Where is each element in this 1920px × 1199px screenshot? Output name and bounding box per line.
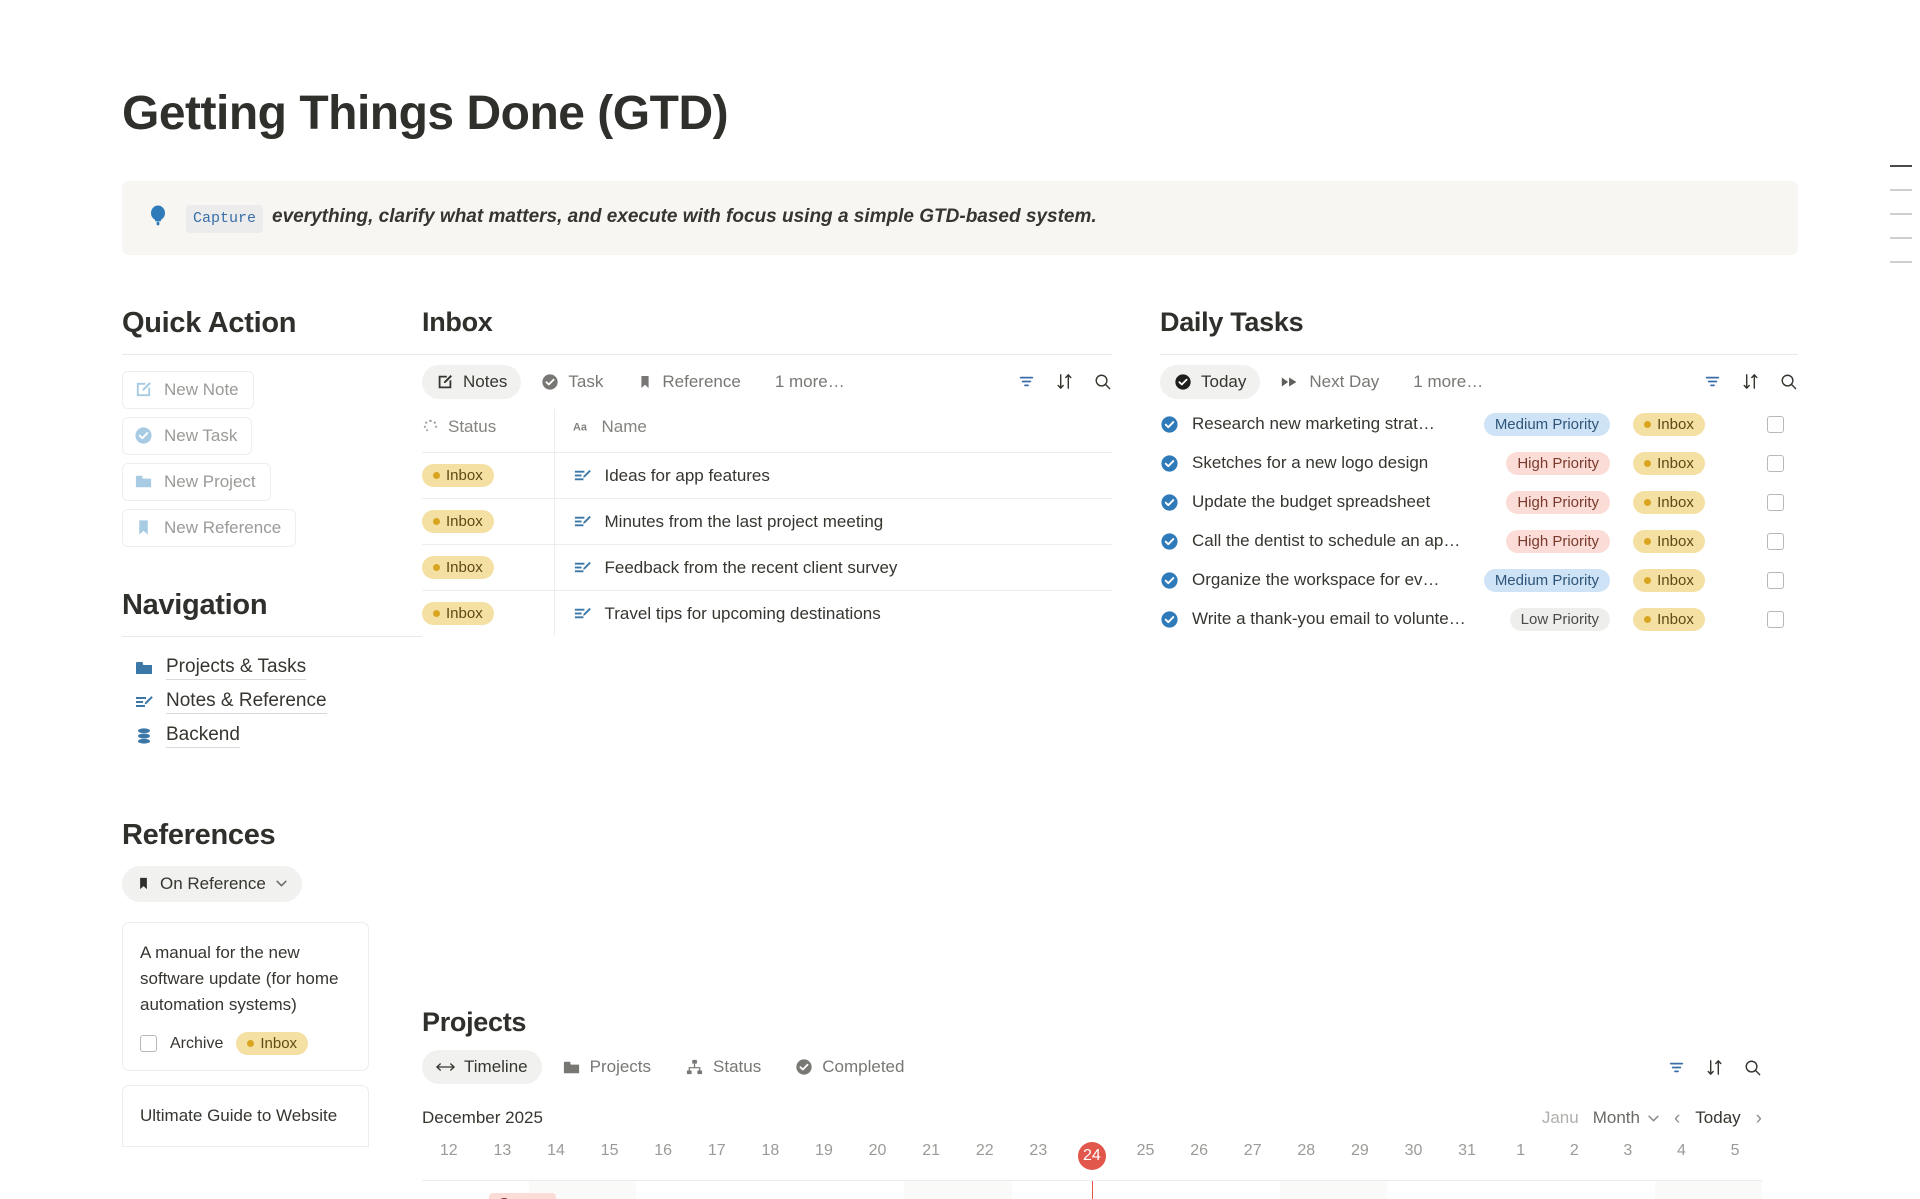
status-badge: Inbox — [1633, 452, 1705, 475]
sort-icon[interactable] — [1741, 372, 1760, 391]
status-badge: Inbox — [422, 556, 494, 579]
timeline-scale-select[interactable]: Month — [1593, 1108, 1660, 1128]
lightbulb-icon — [148, 205, 168, 227]
task-name-cell: Research new marketing strat… — [1160, 414, 1476, 434]
note-edit-icon — [134, 692, 154, 712]
timeline-day: 2 — [1547, 1142, 1601, 1180]
timeline-day: 27 — [1226, 1142, 1280, 1180]
check-circle-icon[interactable] — [1160, 571, 1179, 590]
timeline-day: 13 — [476, 1142, 530, 1180]
task-checkbox-cell — [1728, 494, 1784, 511]
task-checkbox[interactable] — [1767, 533, 1784, 550]
timeline-scale-label: Month — [1593, 1108, 1640, 1128]
timeline-day: 25 — [1119, 1142, 1173, 1180]
tab-status[interactable]: Status — [671, 1050, 775, 1084]
daily-tasks-tabs-row: Today Next Day 1 more… — [1160, 365, 1798, 399]
on-reference-label: On Reference — [160, 874, 266, 894]
day-label: 12 — [440, 1142, 458, 1159]
check-circle-icon[interactable] — [1160, 532, 1179, 551]
daily-tasks-tabs: Today Next Day 1 more… — [1160, 365, 1497, 399]
row-name-cell: Travel tips for upcoming destinations — [554, 591, 1112, 637]
callout-sentence: everything, clarify what matters, and ex… — [272, 203, 1097, 231]
sort-icon[interactable] — [1705, 1058, 1724, 1077]
timeline-day: 19 — [797, 1142, 851, 1180]
inbox-table: Status Aa Name — [422, 409, 1112, 637]
day-label: 19 — [815, 1142, 833, 1159]
archive-label: Archive — [170, 1035, 223, 1053]
check-circle-icon — [541, 373, 559, 391]
day-label: 21 — [922, 1142, 940, 1159]
archive-checkbox[interactable] — [140, 1035, 157, 1052]
timeline-rows: ▼ Career Plan a community charity event … — [422, 1181, 1762, 1199]
hierarchy-icon — [685, 1058, 704, 1077]
status-dot-icon — [433, 564, 440, 571]
task-status-cell: Inbox — [1610, 569, 1728, 592]
daily-tasks-panel: Daily Tasks Today Next Day — [1112, 307, 1798, 1147]
daily-tasks-heading: Daily Tasks — [1160, 307, 1798, 338]
timeline-day: 14 — [529, 1142, 583, 1180]
task-status-cell: Inbox — [1610, 413, 1728, 436]
day-label: 26 — [1190, 1142, 1208, 1159]
new-project-label: New Project — [164, 472, 256, 492]
status-badge-label: Inbox — [446, 559, 483, 576]
table-row[interactable]: Inbox Ideas for app features — [422, 453, 1112, 499]
tab-label: Today — [1201, 372, 1246, 392]
check-circle-icon — [134, 426, 153, 445]
tab-next-day[interactable]: Next Day — [1266, 365, 1393, 399]
task-status-cell: Inbox — [1610, 491, 1728, 514]
status-badge-label: Inbox — [446, 467, 483, 484]
note-edit-icon — [573, 466, 592, 485]
quick-action-heading: Quick Action — [122, 307, 422, 340]
day-label: 23 — [1029, 1142, 1047, 1159]
status-dot-icon — [433, 472, 440, 479]
timeline-nav: ‹ Today › — [1674, 1108, 1762, 1128]
timeline-next-month-label: Janu — [1542, 1108, 1579, 1128]
timeline-grid: 12 13 14 15 16 17 18 19 20 21 22 23 24 2… — [422, 1142, 1762, 1199]
search-icon[interactable] — [1743, 1058, 1762, 1077]
navigation-list: Projects & Tasks Notes & Reference Backe… — [122, 651, 422, 753]
status-badge-label: Inbox — [1657, 416, 1694, 433]
status-badge: Inbox — [1633, 569, 1705, 592]
task-checkbox[interactable] — [1767, 611, 1784, 628]
row-name-cell: Ideas for app features — [554, 453, 1112, 499]
new-reference-button[interactable]: New Reference — [122, 509, 296, 547]
task-row[interactable]: Sketches for a new logo design High Prio… — [1160, 444, 1798, 483]
timeline-day: 17 — [690, 1142, 744, 1180]
task-checkbox-cell — [1728, 611, 1784, 628]
tab-projects[interactable]: Projects — [548, 1050, 665, 1084]
day-label: 4 — [1677, 1142, 1686, 1159]
page-title: Getting Things Done (GTD) — [122, 0, 1798, 141]
daily-tasks-tools — [1703, 372, 1798, 391]
row-status-cell: Inbox — [422, 591, 554, 637]
left-sidebar: Quick Action New Note New Task — [122, 307, 422, 1147]
tab-label: 1 more… — [1413, 372, 1483, 392]
task-row[interactable]: Call the dentist to schedule an ap… High… — [1160, 522, 1798, 561]
priority-badge: High Priority — [1506, 491, 1610, 514]
status-dot-icon — [1644, 499, 1651, 506]
status-dot-icon — [1644, 460, 1651, 467]
task-status-cell: Inbox — [1610, 452, 1728, 475]
divider — [122, 354, 422, 355]
task-checkbox-cell — [1728, 572, 1784, 589]
tab-timeline[interactable]: Timeline — [422, 1050, 542, 1084]
day-label: 5 — [1731, 1142, 1740, 1159]
timeline-day: 26 — [1172, 1142, 1226, 1180]
tab-label: 1 more… — [775, 372, 845, 392]
scroll-indicator[interactable] — [1890, 165, 1912, 285]
row-name-label: Minutes from the last project meeting — [605, 512, 884, 532]
day-label: 29 — [1351, 1142, 1369, 1159]
status-badge: Inbox — [236, 1032, 308, 1055]
inbox-heading: Inbox — [422, 307, 1112, 338]
new-note-button[interactable]: New Note — [122, 371, 254, 409]
day-label: 15 — [601, 1142, 619, 1159]
day-label: 3 — [1623, 1142, 1632, 1159]
task-label: Write a thank-you email to volunte… — [1192, 609, 1466, 629]
search-icon[interactable] — [1779, 372, 1798, 391]
tab-more[interactable]: 1 more… — [761, 365, 859, 399]
column-header-name[interactable]: Aa Name — [554, 409, 1112, 453]
task-checkbox[interactable] — [1767, 455, 1784, 472]
priority-badge: Medium Priority — [1484, 413, 1610, 436]
tab-label: Next Day — [1309, 372, 1379, 392]
timeline-day: 3 — [1601, 1142, 1655, 1180]
tab-label: Projects — [590, 1057, 651, 1077]
check-circle-icon[interactable] — [1160, 415, 1179, 434]
task-checkbox[interactable] — [1767, 572, 1784, 589]
bookmark-icon — [136, 875, 151, 892]
row-name-label: Ideas for app features — [605, 466, 770, 486]
tab-reference[interactable]: Reference — [623, 365, 754, 399]
table-row[interactable]: Inbox Travel tips for upcoming destinati… — [422, 591, 1112, 637]
row-status-cell: Inbox — [422, 545, 554, 591]
status-badge: Inbox — [422, 510, 494, 533]
status-spinner-icon — [422, 418, 439, 435]
sidebar-item-label: Notes & Reference — [166, 690, 327, 714]
row-name-label: Travel tips for upcoming destinations — [605, 604, 881, 624]
check-circle-icon[interactable] — [1160, 493, 1179, 512]
day-label: 18 — [761, 1142, 779, 1159]
search-icon[interactable] — [1093, 372, 1112, 391]
bookmark-icon — [134, 518, 153, 537]
task-status-cell: Inbox — [1610, 608, 1728, 631]
timeline-day: 12 — [422, 1142, 476, 1180]
check-circle-icon — [1174, 373, 1192, 391]
status-badge: Inbox — [1633, 530, 1705, 553]
status-badge-label: Inbox — [1657, 611, 1694, 628]
status-dot-icon — [433, 610, 440, 617]
task-name-cell: Call the dentist to schedule an ap… — [1160, 531, 1476, 551]
status-badge: Inbox — [422, 464, 494, 487]
tab-label: Status — [713, 1057, 761, 1077]
day-label: 16 — [654, 1142, 672, 1159]
tab-label: Completed — [822, 1057, 904, 1077]
filter-icon[interactable] — [1017, 372, 1036, 391]
row-name-cell: Minutes from the last project meeting — [554, 499, 1112, 545]
status-badge-label: Inbox — [446, 513, 483, 530]
gtd-dashboard: Getting Things Done (GTD) Capture everyt… — [0, 0, 1920, 1199]
svg-text:Aa: Aa — [573, 422, 588, 434]
timeline-day-today: 24 — [1065, 1142, 1119, 1180]
sidebar-item-backend[interactable]: Backend — [122, 719, 422, 753]
task-row[interactable]: Update the budget spreadsheet High Prior… — [1160, 483, 1798, 522]
timeline-group-career[interactable]: ▼ Career — [422, 1181, 1762, 1199]
divider — [122, 636, 422, 637]
chevron-down-icon — [1647, 1112, 1660, 1125]
inbox-rows: Inbox Ideas for app features — [422, 453, 1112, 637]
row-name-cell: Feedback from the recent client survey — [554, 545, 1112, 591]
day-label: 20 — [869, 1142, 887, 1159]
day-label: 13 — [493, 1142, 511, 1159]
timeline-day: 5 — [1708, 1142, 1762, 1180]
today-marker: 24 — [1078, 1142, 1106, 1170]
reference-card-title: Ultimate Guide to Website — [140, 1103, 351, 1129]
chevron-down-icon — [275, 877, 288, 890]
status-badge-label: Inbox — [1657, 572, 1694, 589]
navigation-heading: Navigation — [122, 589, 422, 622]
new-project-button[interactable]: New Project — [122, 463, 271, 501]
task-priority-cell: High Priority — [1476, 452, 1610, 475]
status-badge: Inbox — [1633, 413, 1705, 436]
timeline-day: 20 — [851, 1142, 905, 1180]
bookmark-icon — [637, 373, 653, 391]
task-row[interactable]: Research new marketing strat… Medium Pri… — [1160, 405, 1798, 444]
task-name-cell: Organize the workspace for ev… — [1160, 570, 1476, 590]
day-label: 14 — [547, 1142, 565, 1159]
timeline-today-button[interactable]: Today — [1695, 1108, 1740, 1128]
task-label: Update the budget spreadsheet — [1192, 492, 1430, 512]
timeline-day: 1 — [1494, 1142, 1548, 1180]
priority-badge: High Priority — [1506, 452, 1610, 475]
new-task-button[interactable]: New Task — [122, 417, 252, 455]
timeline-month-label: December 2025 — [422, 1108, 543, 1128]
day-label: 1 — [1516, 1142, 1525, 1159]
check-circle-icon — [795, 1058, 813, 1076]
status-badge-label: Inbox — [260, 1035, 297, 1052]
timeline-day: 31 — [1440, 1142, 1494, 1180]
sidebar-item-label: Backend — [166, 724, 240, 748]
table-header-row: Status Aa Name — [422, 409, 1112, 453]
status-badge: Inbox — [1633, 608, 1705, 631]
tab-notes[interactable]: Notes — [422, 365, 521, 399]
callout-text: Capture everything, clarify what matters… — [186, 203, 1097, 233]
task-row[interactable]: Organize the workspace for ev… Medium Pr… — [1160, 561, 1798, 600]
reference-card[interactable]: Ultimate Guide to Website — [122, 1085, 369, 1147]
note-edit-icon — [573, 604, 592, 623]
status-badge-label: Inbox — [446, 605, 483, 622]
timeline-day-headers: 12 13 14 15 16 17 18 19 20 21 22 23 24 2… — [422, 1142, 1762, 1180]
priority-badge: High Priority — [1506, 530, 1610, 553]
status-dot-icon — [1644, 421, 1651, 428]
priority-badge: Low Priority — [1510, 608, 1610, 631]
day-label: 30 — [1405, 1142, 1423, 1159]
task-status-cell: Inbox — [1610, 530, 1728, 553]
sidebar-item-notes-reference[interactable]: Notes & Reference — [122, 685, 422, 719]
task-priority-cell: Medium Priority — [1476, 569, 1610, 592]
text-aa-icon: Aa — [573, 419, 593, 435]
new-note-label: New Note — [164, 380, 239, 400]
folder-icon — [134, 658, 154, 678]
day-label: 17 — [708, 1142, 726, 1159]
timeline-day: 4 — [1655, 1142, 1709, 1180]
chevron-right-icon[interactable]: › — [1756, 1109, 1762, 1128]
check-circle-icon[interactable] — [1160, 610, 1179, 629]
task-label: Call the dentist to schedule an ap… — [1192, 531, 1460, 551]
inbox-tabs-row: Notes Task Reference — [422, 365, 1112, 399]
status-badge: Inbox — [1633, 491, 1705, 514]
callout-code-chip: Capture — [186, 205, 263, 233]
task-row[interactable]: Write a thank-you email to volunte… Low … — [1160, 600, 1798, 639]
chevron-left-icon[interactable]: ‹ — [1674, 1109, 1680, 1128]
row-status-cell: Inbox — [422, 499, 554, 545]
projects-tabs: Timeline Projects Status — [422, 1050, 918, 1084]
task-priority-cell: High Priority — [1476, 530, 1610, 553]
status-dot-icon — [1644, 538, 1651, 545]
task-checkbox[interactable] — [1767, 416, 1784, 433]
sidebar-item-projects-tasks[interactable]: Projects & Tasks — [122, 651, 422, 685]
tab-label: Reference — [662, 372, 740, 392]
tab-task[interactable]: Task — [527, 365, 617, 399]
quick-action-list: New Note New Task New Project — [122, 371, 422, 555]
note-edit-icon — [134, 380, 153, 399]
note-edit-icon — [573, 558, 592, 577]
note-edit-icon — [573, 512, 592, 531]
column-header-label: Status — [448, 417, 496, 437]
folder-icon — [562, 1058, 581, 1077]
timeline-day: 22 — [958, 1142, 1012, 1180]
tab-completed[interactable]: Completed — [781, 1050, 918, 1084]
status-badge-label: Inbox — [1657, 455, 1694, 472]
new-reference-label: New Reference — [164, 518, 281, 538]
timeline-day: 18 — [744, 1142, 798, 1180]
tab-label: Task — [568, 372, 603, 392]
day-label: 27 — [1244, 1142, 1262, 1159]
column-header-status[interactable]: Status — [422, 409, 554, 453]
reference-card[interactable]: A manual for the new software update (fo… — [122, 922, 369, 1071]
inbox-tools — [1017, 372, 1112, 391]
tab-more[interactable]: 1 more… — [1399, 365, 1497, 399]
row-status-cell: Inbox — [422, 453, 554, 499]
column-header-label: Name — [602, 417, 647, 437]
tab-label: Timeline — [464, 1057, 528, 1077]
day-label: 22 — [976, 1142, 994, 1159]
status-dot-icon — [1644, 577, 1651, 584]
priority-badge: Medium Priority — [1484, 569, 1610, 592]
divider — [1160, 354, 1798, 355]
day-label: 28 — [1297, 1142, 1315, 1159]
timeline-body: ▼ Career Plan a community charity event … — [422, 1180, 1762, 1199]
task-name-cell: Sketches for a new logo design — [1160, 453, 1476, 473]
sort-icon[interactable] — [1055, 372, 1074, 391]
arrows-horizontal-icon — [436, 1059, 455, 1075]
task-checkbox-cell — [1728, 533, 1784, 550]
day-label: 31 — [1458, 1142, 1476, 1159]
task-label: Sketches for a new logo design — [1192, 453, 1428, 473]
reference-card-meta: Archive Inbox — [140, 1032, 351, 1055]
task-checkbox-cell — [1728, 416, 1784, 433]
task-name-cell: Update the budget spreadsheet — [1160, 492, 1476, 512]
task-priority-cell: Medium Priority — [1476, 413, 1610, 436]
status-dot-icon — [1644, 616, 1651, 623]
task-priority-cell: High Priority — [1476, 491, 1610, 514]
timeline-day: 15 — [583, 1142, 637, 1180]
day-label: 2 — [1570, 1142, 1579, 1159]
day-label: 25 — [1137, 1142, 1155, 1159]
callout-banner: Capture everything, clarify what matters… — [122, 181, 1798, 255]
table-row[interactable]: Inbox Minutes from the last project meet… — [422, 499, 1112, 545]
task-name-cell: Write a thank-you email to volunte… — [1160, 609, 1476, 629]
fast-forward-icon — [1280, 373, 1300, 391]
group-label: Career — [489, 1193, 556, 1199]
status-badge-label: Inbox — [1657, 494, 1694, 511]
projects-tools — [1667, 1058, 1762, 1077]
folder-icon — [134, 472, 153, 491]
divider — [422, 354, 1112, 355]
tab-label: Notes — [463, 372, 507, 392]
status-dot-icon — [247, 1040, 254, 1047]
timeline-day: 23 — [1012, 1142, 1066, 1180]
table-row[interactable]: Inbox Feedback from the recent client su… — [422, 545, 1112, 591]
task-label: Research new marketing strat… — [1192, 414, 1435, 434]
on-reference-filter[interactable]: On Reference — [122, 866, 302, 902]
reference-card-title: A manual for the new software update (fo… — [140, 940, 351, 1017]
row-name-label: Feedback from the recent client survey — [605, 558, 898, 578]
task-label: Organize the workspace for ev… — [1192, 570, 1440, 590]
status-badge: Inbox — [422, 602, 494, 625]
filter-icon[interactable] — [1667, 1058, 1686, 1077]
timeline-day: 16 — [636, 1142, 690, 1180]
check-circle-icon[interactable] — [1160, 454, 1179, 473]
task-checkbox-cell — [1728, 455, 1784, 472]
timeline-day: 21 — [904, 1142, 958, 1180]
task-checkbox[interactable] — [1767, 494, 1784, 511]
note-edit-icon — [436, 373, 454, 391]
timeline-day: 29 — [1333, 1142, 1387, 1180]
database-icon — [134, 726, 154, 746]
daily-tasks-list: Research new marketing strat… Medium Pri… — [1160, 405, 1798, 639]
references-heading: References — [122, 819, 422, 852]
inbox-tabs: Notes Task Reference — [422, 365, 859, 399]
sidebar-item-label: Projects & Tasks — [166, 656, 306, 680]
status-badge-label: Inbox — [1657, 533, 1694, 550]
task-priority-cell: Low Priority — [1476, 608, 1610, 631]
tab-today[interactable]: Today — [1160, 365, 1260, 399]
new-task-label: New Task — [164, 426, 237, 446]
timeline-day: 30 — [1387, 1142, 1441, 1180]
status-dot-icon — [433, 518, 440, 525]
timeline-day: 28 — [1280, 1142, 1334, 1180]
timeline-controls: Janu Month ‹ Today › — [1542, 1108, 1762, 1128]
filter-icon[interactable] — [1703, 372, 1722, 391]
